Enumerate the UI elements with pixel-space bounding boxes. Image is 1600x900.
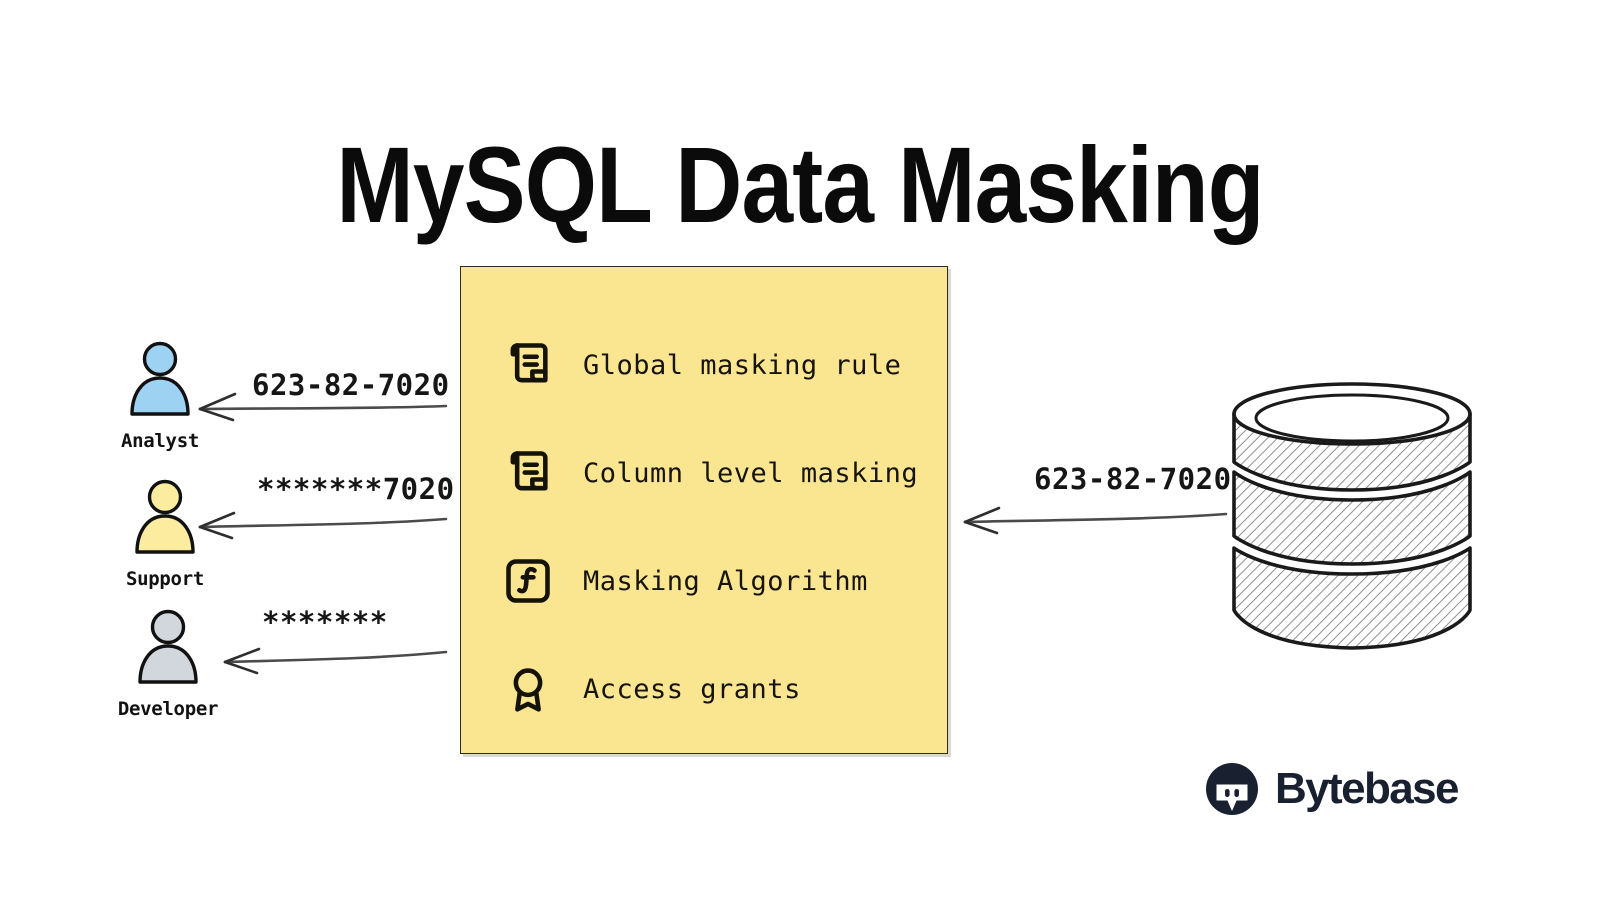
bytebase-brand: Bytebase [1203,760,1458,818]
scroll-icon [499,336,557,394]
support-value: *******7020 [257,472,455,506]
bytebase-logo-icon [1203,760,1261,818]
actor-label: Analyst [80,430,240,452]
feature-row-access-grants: Access grants [461,635,947,743]
arrow-from-database [955,500,1230,534]
feature-row-column-level-masking: Column level masking [461,419,947,527]
scroll-icon [499,444,557,502]
developer-value: ******* [262,605,388,639]
arrow-to-support [190,505,450,539]
feature-row-masking-algorithm: Masking Algorithm [461,527,947,635]
masking-features-card: Global masking rule Column level masking… [460,266,948,754]
actor-label: Support [85,568,245,590]
person-icon [132,608,204,696]
brand-name: Bytebase [1275,764,1458,814]
feature-label: Column level masking [583,458,918,489]
arrow-to-developer [215,640,450,674]
feature-label: Masking Algorithm [583,566,868,597]
database-icon [1228,378,1476,656]
feature-label: Global masking rule [583,350,901,381]
feature-row-global-masking-rule: Global masking rule [461,311,947,419]
function-icon [499,552,557,610]
person-icon [124,340,196,428]
source-value: 623-82-7020 [1034,462,1232,496]
arrow-to-analyst [190,388,450,422]
award-icon [499,660,557,718]
actor-label: Developer [88,698,248,720]
feature-label: Access grants [583,674,801,705]
page-title: MySQL Data Masking [112,128,1488,241]
